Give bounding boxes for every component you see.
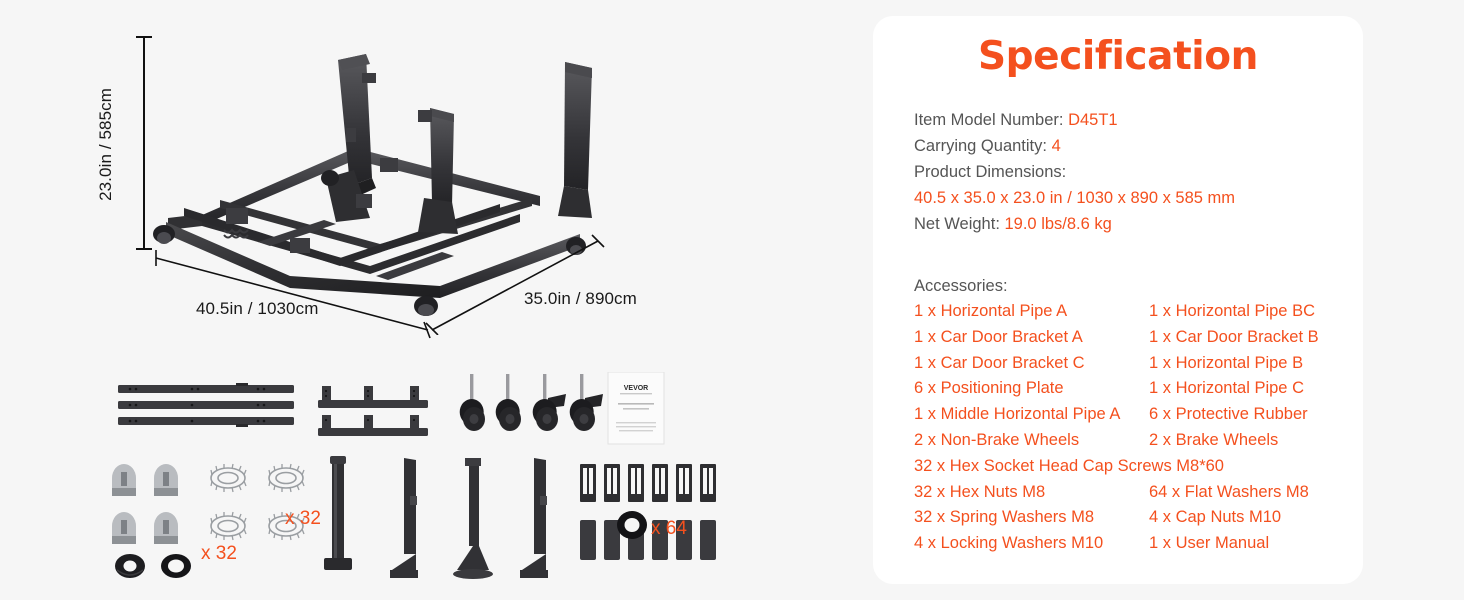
user-manual-part: VEVOR (608, 372, 664, 444)
accessory-item: 6 x Protective Rubber (1149, 402, 1363, 428)
parts-group-pipes-wheels-manual: VEVOR (100, 372, 700, 448)
spec-value-dimensions: 40.5 x 35.0 x 23.0 in / 1030 x 890 x 585… (914, 185, 1363, 211)
spec-row-net-weight: Net Weight: 19.0 lbs/8.6 kg (914, 211, 1363, 237)
width-dimension-line (150, 240, 450, 340)
spec-value-net-weight: 19.0 lbs/8.6 kg (1005, 215, 1112, 233)
accessory-item: 32 x Spring Washers M8 (914, 505, 1149, 531)
spec-value-model: D45T1 (1068, 111, 1118, 129)
svg-text:VEVOR: VEVOR (624, 385, 649, 392)
hex-socket-screw-part (324, 456, 352, 570)
width-dimension-label: 40.5in / 1030cm (196, 299, 318, 319)
horizontal-pipes-part (118, 383, 294, 427)
accessory-item: 64 x Flat Washers M8 (1149, 480, 1363, 506)
accessories-label: Accessories: (914, 273, 1363, 299)
screws-quantity-label: x 32 (285, 508, 321, 530)
flat-washers-quantity-label: x 64 (651, 518, 687, 540)
spec-label-model: Item Model Number: (914, 111, 1063, 129)
accessory-item: 1 x Horizontal Pipe BC (1149, 299, 1363, 325)
middle-pipe-part (318, 386, 428, 436)
height-dimension-label: 23.0in / 585cm (96, 88, 116, 201)
accessory-item: 1 x Horizontal Pipe B (1149, 351, 1363, 377)
cap-nuts-part (112, 464, 178, 544)
accessory-item: 1 x Car Door Bracket C (914, 351, 1149, 377)
depth-dimension-line (418, 225, 618, 335)
accessory-item: 1 x Middle Horizontal Pipe A (914, 402, 1149, 428)
spec-label-carrying-quantity: Carrying Quantity: (914, 137, 1047, 155)
spec-row-carrying-quantity: Carrying Quantity: 4 (914, 133, 1363, 159)
spec-value-carrying-quantity: 4 (1052, 137, 1061, 155)
spec-row-model: Item Model Number: D45T1 (914, 107, 1363, 133)
accessory-item: 2 x Brake Wheels (1149, 428, 1363, 454)
specification-card: Specification Item Model Number: D45T1 C… (873, 16, 1363, 584)
accessory-item: 2 x Non-Brake Wheels (914, 428, 1149, 454)
caster-wheels-part (460, 374, 603, 431)
accessory-item: 4 x Cap Nuts M10 (1149, 505, 1363, 531)
flat-washer-part (615, 508, 649, 542)
specification-title: Specification (873, 34, 1363, 79)
hex-nuts-spring-washers-part (115, 554, 191, 578)
product-spec-page: 23.0in / 585cm (0, 0, 1464, 600)
specification-list: Item Model Number: D45T1 Carrying Quanti… (873, 107, 1363, 237)
washers-quantity-label: x 32 (201, 543, 237, 565)
accessory-item: 32 x Hex Socket Head Cap Screws M8*60 (914, 454, 1363, 480)
accessory-item: 1 x Car Door Bracket B (1149, 325, 1363, 351)
accessory-item: 32 x Hex Nuts M8 (914, 480, 1149, 506)
spec-label-dimensions: Product Dimensions: (914, 159, 1363, 185)
accessory-item: 1 x Car Door Bracket A (914, 325, 1149, 351)
product-illustration-panel: 23.0in / 585cm (0, 0, 870, 600)
accessory-item: 4 x Locking Washers M10 (914, 531, 1149, 557)
spec-label-net-weight: Net Weight: (914, 215, 1000, 233)
car-door-brackets-part (390, 458, 548, 579)
depth-dimension-label: 35.0in / 890cm (524, 289, 637, 309)
accessory-item: 6 x Positioning Plate (914, 376, 1149, 402)
accessories-grid: 1 x Horizontal Pipe A 1 x Horizontal Pip… (914, 299, 1363, 557)
accessory-item: 1 x Horizontal Pipe C (1149, 376, 1363, 402)
accessory-item: 1 x User Manual (1149, 531, 1363, 557)
accessory-item: 1 x Horizontal Pipe A (914, 299, 1149, 325)
